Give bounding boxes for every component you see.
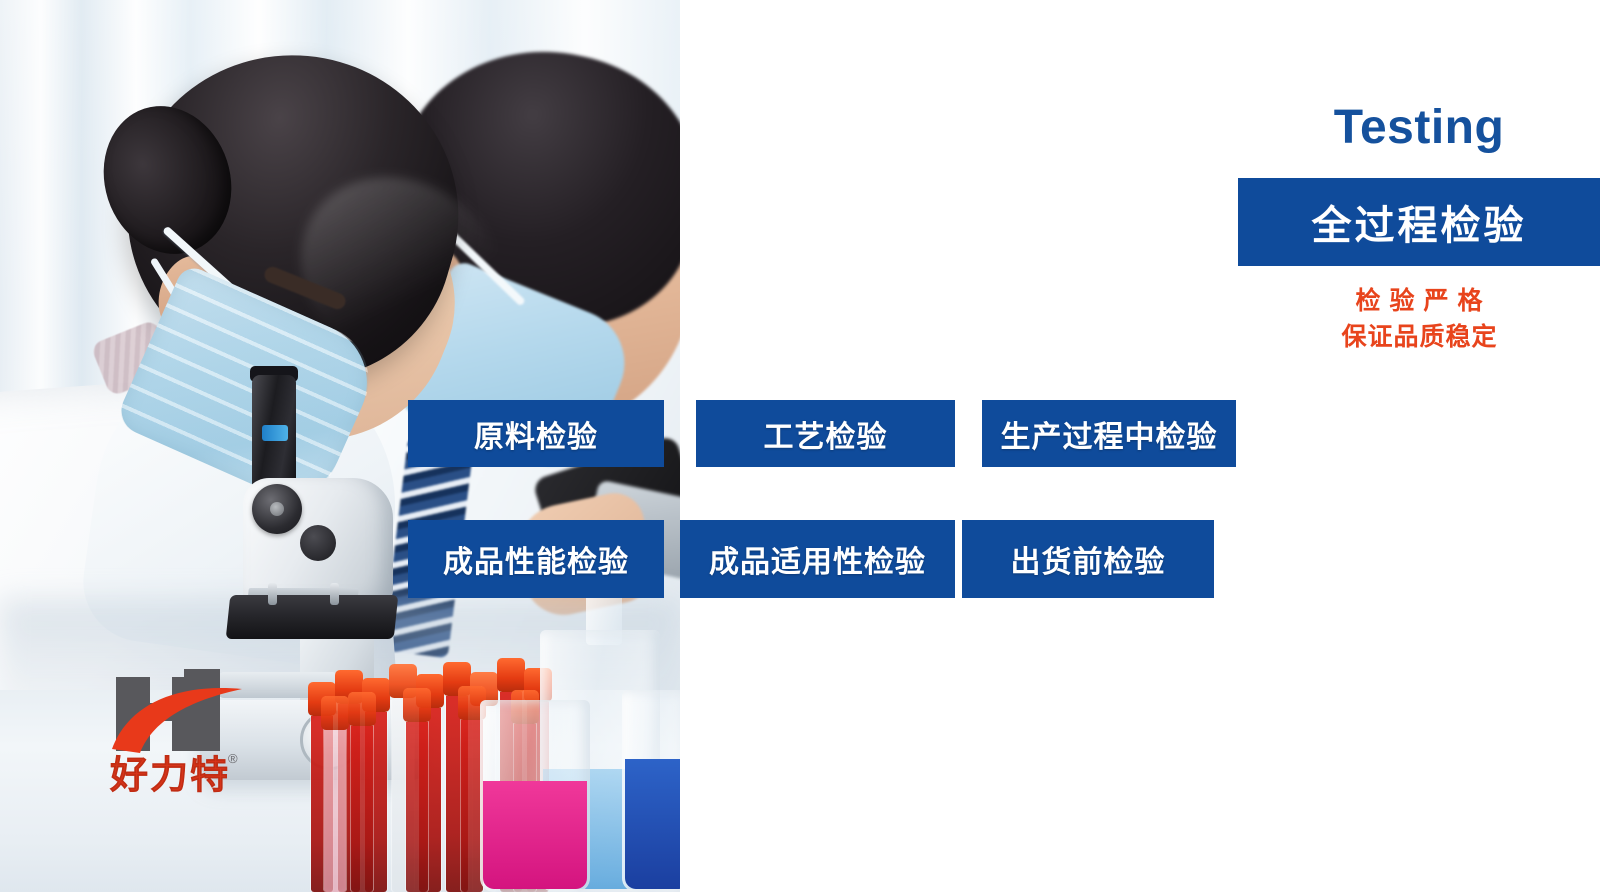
logo-brand-text: 好力特: [110, 757, 270, 795]
beaker-blue-liquid: [625, 759, 680, 889]
chip-raw-material-inspection[interactable]: 原料检验: [408, 400, 664, 467]
microscope-fine-focus-knob: [300, 525, 336, 561]
stage-screw-left: [268, 583, 277, 605]
beaker-pink-liquid: [483, 781, 587, 889]
chip-process-inspection[interactable]: 工艺检验: [696, 400, 955, 467]
microscope-coarse-focus-knob: [252, 484, 302, 534]
chip-in-production-inspection[interactable]: 生产过程中检验: [982, 400, 1236, 467]
chip-finished-product-performance-inspection[interactable]: 成品性能检验: [408, 520, 664, 598]
chip-pre-shipment-inspection[interactable]: 出货前检验: [962, 520, 1214, 598]
microscope-brand-label: [262, 425, 288, 441]
chip-finished-product-applicability-inspection[interactable]: 成品适用性检验: [680, 520, 955, 598]
slide-root: 好力特 ® Testing 全过程检验 检验严格 保证品质稳定 原料检验 工艺检…: [0, 0, 1600, 892]
beaker-blue: [622, 690, 680, 892]
company-logo: 好力特 ®: [110, 665, 270, 815]
subtitle-line-1: 检验严格: [1238, 284, 1600, 320]
beaker-pink: [480, 700, 590, 892]
logo-ht-mark: [110, 665, 270, 760]
subtitle-slogan: 检验严格 保证品质稳定: [1238, 284, 1600, 355]
registered-trademark-icon: ®: [228, 751, 238, 766]
stage-screw-right: [330, 583, 339, 605]
page-title-chinese: 全过程检验: [1238, 178, 1600, 266]
page-title-english: Testing: [1238, 104, 1600, 152]
subtitle-line-2: 保证品质稳定: [1238, 320, 1600, 356]
microscope-stage: [226, 595, 399, 639]
